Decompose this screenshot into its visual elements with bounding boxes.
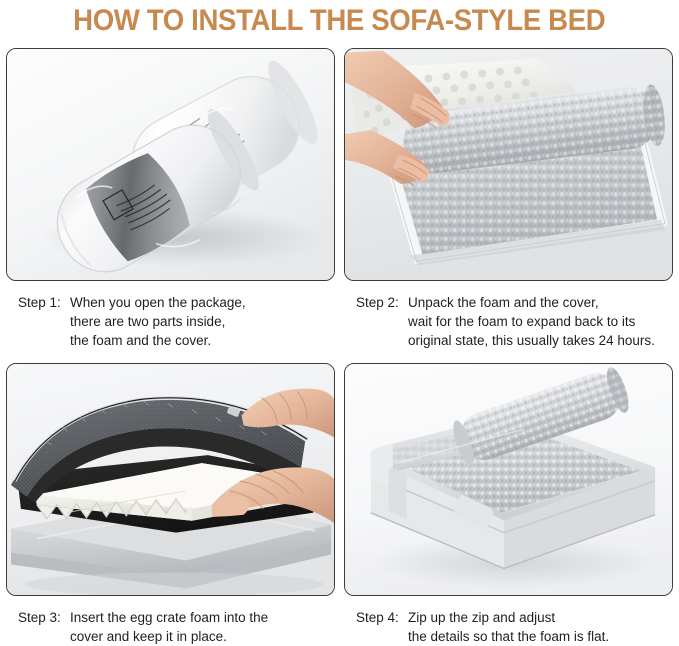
step-text-line: Unpack the foam and the cover, — [408, 293, 673, 312]
step-card-4: Step 4: Zip up the zip and adjust the de… — [344, 363, 673, 646]
step-label-3: Step 3: — [18, 608, 70, 627]
step-text-line: the details so that the foam is flat. — [408, 627, 673, 646]
step-text-4: Zip up the zip and adjust the details so… — [408, 608, 673, 646]
unrolling-cover-photo — [344, 48, 673, 281]
step-text-line: there are two parts inside, — [70, 312, 335, 331]
step-text-line: the foam and the cover. — [70, 331, 335, 350]
step-text-line: Insert the egg crate foam into the — [70, 608, 335, 627]
step-card-1: Step 1: When you open the package, there… — [6, 48, 335, 350]
step-caption-4: Step 4: Zip up the zip and adjust the de… — [344, 608, 673, 646]
packaged-rolls-photo — [6, 48, 335, 281]
step-text-1: When you open the package, there are two… — [70, 293, 335, 350]
step-label-1: Step 1: — [18, 293, 70, 312]
step-text-line: cover and keep it in place. — [70, 627, 335, 646]
step-text-3: Insert the egg crate foam into the cover… — [70, 608, 335, 646]
step-card-3: Step 3: Insert the egg crate foam into t… — [6, 363, 335, 646]
step-text-line: When you open the package, — [70, 293, 335, 312]
steps-grid: Step 1: When you open the package, there… — [0, 42, 679, 644]
step-card-2: Step 2: Unpack the foam and the cover, w… — [344, 48, 673, 350]
step-label-4: Step 4: — [356, 608, 408, 627]
step-text-line: Zip up the zip and adjust — [408, 608, 673, 627]
finished-bed-photo — [344, 363, 673, 596]
step-label-2: Step 2: — [356, 293, 408, 312]
step-caption-1: Step 1: When you open the package, there… — [6, 293, 335, 350]
inserting-foam-photo — [6, 363, 335, 596]
step-text-2: Unpack the foam and the cover, wait for … — [408, 293, 673, 350]
step-text-line: wait for the foam to expand back to its — [408, 312, 673, 331]
page-title: HOW TO INSTALL THE SOFA-STYLE BED — [73, 4, 605, 38]
step-text-line: original state, this usually takes 24 ho… — [408, 331, 673, 350]
step-caption-2: Step 2: Unpack the foam and the cover, w… — [344, 293, 673, 350]
step-caption-3: Step 3: Insert the egg crate foam into t… — [6, 608, 335, 646]
page-header: HOW TO INSTALL THE SOFA-STYLE BED — [0, 0, 679, 42]
